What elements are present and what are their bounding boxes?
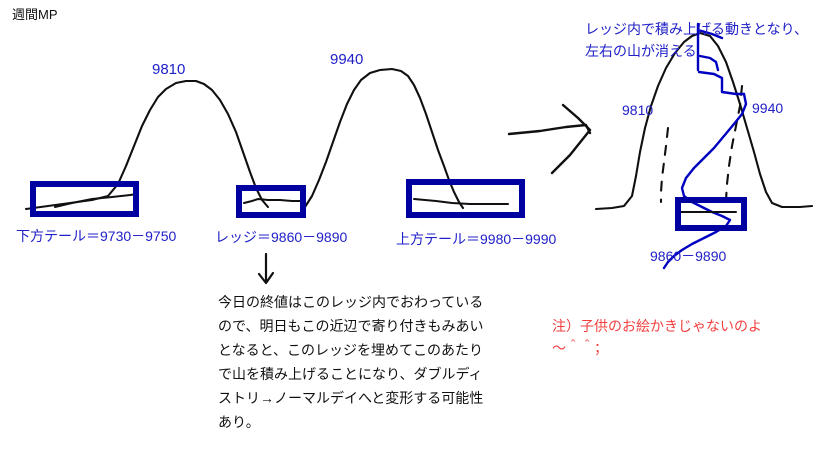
- left-peak-label-9810: 9810: [152, 62, 185, 77]
- right-zone-label-ledge: 9860－9890: [650, 249, 726, 263]
- transition-arrow-icon: [509, 105, 590, 173]
- right-peak-label-9810: 9810: [622, 103, 653, 117]
- commentary-text: 今日の終値はこのレッジ内でおわっているので、明日もこの近辺で寄り付きもみあいとな…: [218, 290, 488, 434]
- zone-box-lower-tail: [33, 184, 136, 214]
- zone-label-ledge: レッジ＝9860－9890: [215, 230, 347, 244]
- right-zone-box-ledge: [678, 200, 744, 228]
- right-chart-annotation: レッジ内で積み上げる動きとなり、左右の山が消える: [585, 18, 819, 63]
- down-arrow-icon: [259, 254, 273, 283]
- right-peak-label-9940: 9940: [752, 101, 783, 115]
- left-zone-inner-lines: [55, 194, 508, 207]
- zone-label-upper-tail: 上方テール＝9980－9990: [396, 232, 556, 246]
- red-note-line-2: ～＾＾；: [552, 338, 608, 360]
- zone-box-upper-tail: [409, 182, 522, 215]
- zone-label-lower-tail: 下方テール＝9730－9750: [16, 229, 176, 243]
- drawing-canvas: 週間MP: [0, 0, 819, 460]
- left-peak-label-9940: 9940: [330, 52, 363, 67]
- red-note-line-1: 注）子供のお絵かきじゃないのよ: [552, 316, 762, 338]
